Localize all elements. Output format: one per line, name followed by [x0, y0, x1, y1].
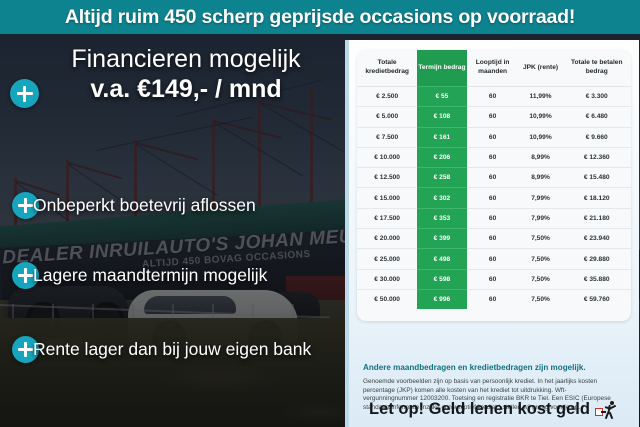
cell-duration: 60	[467, 127, 519, 147]
cell-interest: 7,50%	[519, 289, 563, 309]
cell-monthly-amount: € 161	[417, 127, 466, 147]
leg-shape	[609, 412, 613, 419]
headline-line-2: v.a. €149,- / mnd	[30, 74, 342, 105]
cell-duration: 60	[467, 147, 519, 167]
cell-total-credit: € 25.000	[357, 249, 417, 269]
cell-total-payable: € 59.760	[562, 289, 631, 309]
bullet-item-1: Onbeperkt boetevrij aflossen	[33, 195, 256, 216]
cell-duration: 60	[467, 107, 519, 127]
cell-interest: 8,99%	[519, 147, 563, 167]
finance-card: Totale kredietbedrag Termijn bedrag Loop…	[345, 40, 639, 427]
table-row: € 17.500€ 353607,99%€ 21.180	[357, 208, 631, 228]
head-shape	[610, 401, 614, 405]
headline-line-1: Financieren mogelijk	[30, 44, 342, 74]
cell-duration: 60	[467, 229, 519, 249]
col-header-total-credit: Totale kredietbedrag	[357, 50, 417, 87]
cell-total-payable: € 29.880	[562, 249, 631, 269]
cell-monthly-amount: € 399	[417, 229, 466, 249]
col-header-total-payable: Totale te betalen bedrag	[562, 50, 631, 87]
cell-duration: 60	[467, 87, 519, 107]
cell-duration: 60	[467, 269, 519, 289]
cell-monthly-amount: € 302	[417, 188, 466, 208]
cell-total-credit: € 2.500	[357, 87, 417, 107]
cell-monthly-amount: € 498	[417, 249, 466, 269]
col-header-monthly-amount: Termijn bedrag	[417, 50, 466, 87]
cell-total-credit: € 50.000	[357, 289, 417, 309]
cell-interest: 7,50%	[519, 269, 563, 289]
cell-total-credit: € 5.000	[357, 107, 417, 127]
cell-monthly-amount: € 353	[417, 208, 466, 228]
cell-monthly-amount: € 258	[417, 168, 466, 188]
cell-total-credit: € 30.000	[357, 269, 417, 289]
cell-interest: 7,99%	[519, 188, 563, 208]
table-row: € 7.500€ 1616010,99%€ 9.660	[357, 127, 631, 147]
table-bottom-padding	[357, 309, 631, 321]
table-row: € 30.000€ 598607,50%€ 35.880	[357, 269, 631, 289]
cell-total-credit: € 20.000	[357, 229, 417, 249]
cell-interest: 8,99%	[519, 168, 563, 188]
cell-monthly-amount: € 108	[417, 107, 466, 127]
rate-table-panel: Totale kredietbedrag Termijn bedrag Loop…	[357, 50, 631, 321]
cell-total-payable: € 35.880	[562, 269, 631, 289]
cell-duration: 60	[467, 289, 519, 309]
cell-total-payable: € 23.940	[562, 229, 631, 249]
cell-total-payable: € 15.480	[562, 168, 631, 188]
table-row: € 25.000€ 498607,50%€ 29.880	[357, 249, 631, 269]
rate-table-head: Totale kredietbedrag Termijn bedrag Loop…	[357, 50, 631, 87]
cell-monthly-amount: € 55	[417, 87, 466, 107]
cell-total-payable: € 12.360	[562, 147, 631, 167]
cell-total-payable: € 21.180	[562, 208, 631, 228]
cell-total-credit: € 12.500	[357, 168, 417, 188]
cell-duration: 60	[467, 249, 519, 269]
cell-monthly-amount: € 206	[417, 147, 466, 167]
cell-total-payable: € 3.300	[562, 87, 631, 107]
cell-interest: 11,99%	[519, 87, 563, 107]
cell-duration: 60	[467, 208, 519, 228]
warning-row: Let op! Geld lenen kost geld	[349, 399, 639, 419]
cell-interest: 7,50%	[519, 229, 563, 249]
cell-monthly-amount: € 996	[417, 289, 466, 309]
money-running-man-icon	[595, 399, 619, 419]
promo-banner-image: DEALER INRUILAUTO'S JOHAN MEURE ALTIJD 4…	[0, 0, 640, 427]
col-header-duration: Looptijd in maanden	[467, 50, 519, 87]
cell-interest: 7,99%	[519, 208, 563, 228]
cell-total-payable: € 18.120	[562, 188, 631, 208]
cell-total-credit: € 10.000	[357, 147, 417, 167]
table-header-row: Totale kredietbedrag Termijn bedrag Loop…	[357, 50, 631, 87]
table-row: € 2.500€ 556011,99%€ 3.300	[357, 87, 631, 107]
table-row: € 5.000€ 1086010,99%€ 6.480	[357, 107, 631, 127]
cell-total-credit: € 15.000	[357, 188, 417, 208]
rate-table-body: € 2.500€ 556011,99%€ 3.300€ 5.000€ 10860…	[357, 87, 631, 310]
cell-interest: 7,50%	[519, 249, 563, 269]
left-content: Financieren mogelijk v.a. €149,- / mnd O…	[0, 34, 348, 427]
warning-text: Let op! Geld lenen kost geld	[369, 400, 590, 419]
leash-shape	[601, 411, 606, 413]
cell-interest: 10,99%	[519, 107, 563, 127]
cell-total-payable: € 6.480	[562, 107, 631, 127]
top-banner: Altijd ruim 450 scherp geprijsde occasio…	[0, 0, 640, 34]
cell-monthly-amount: € 598	[417, 269, 466, 289]
page-title: Financieren mogelijk v.a. €149,- / mnd	[30, 44, 342, 105]
bullet-item-2: Lagere maandtermijn mogelijk	[33, 265, 267, 286]
cell-duration: 60	[467, 168, 519, 188]
cell-total-credit: € 7.500	[357, 127, 417, 147]
table-row: € 12.500€ 258608,99%€ 15.480	[357, 168, 631, 188]
cell-interest: 10,99%	[519, 127, 563, 147]
cell-total-credit: € 17.500	[357, 208, 417, 228]
rate-table: Totale kredietbedrag Termijn bedrag Loop…	[357, 50, 631, 309]
bullet-item-3: Rente lager dan bij jouw eigen bank	[33, 339, 311, 360]
note-title: Andere maandbedragen en kredietbedragen …	[363, 362, 625, 373]
table-row: € 50.000€ 996607,50%€ 59.760	[357, 289, 631, 309]
table-row: € 10.000€ 206608,99%€ 12.360	[357, 147, 631, 167]
table-row: € 15.000€ 302607,99%€ 18.120	[357, 188, 631, 208]
table-row: € 20.000€ 399607,50%€ 23.940	[357, 229, 631, 249]
cell-total-payable: € 9.660	[562, 127, 631, 147]
col-header-interest: JPK (rente)	[519, 50, 563, 87]
banner-headline: Altijd ruim 450 scherp geprijsde occasio…	[65, 6, 575, 29]
cell-duration: 60	[467, 188, 519, 208]
